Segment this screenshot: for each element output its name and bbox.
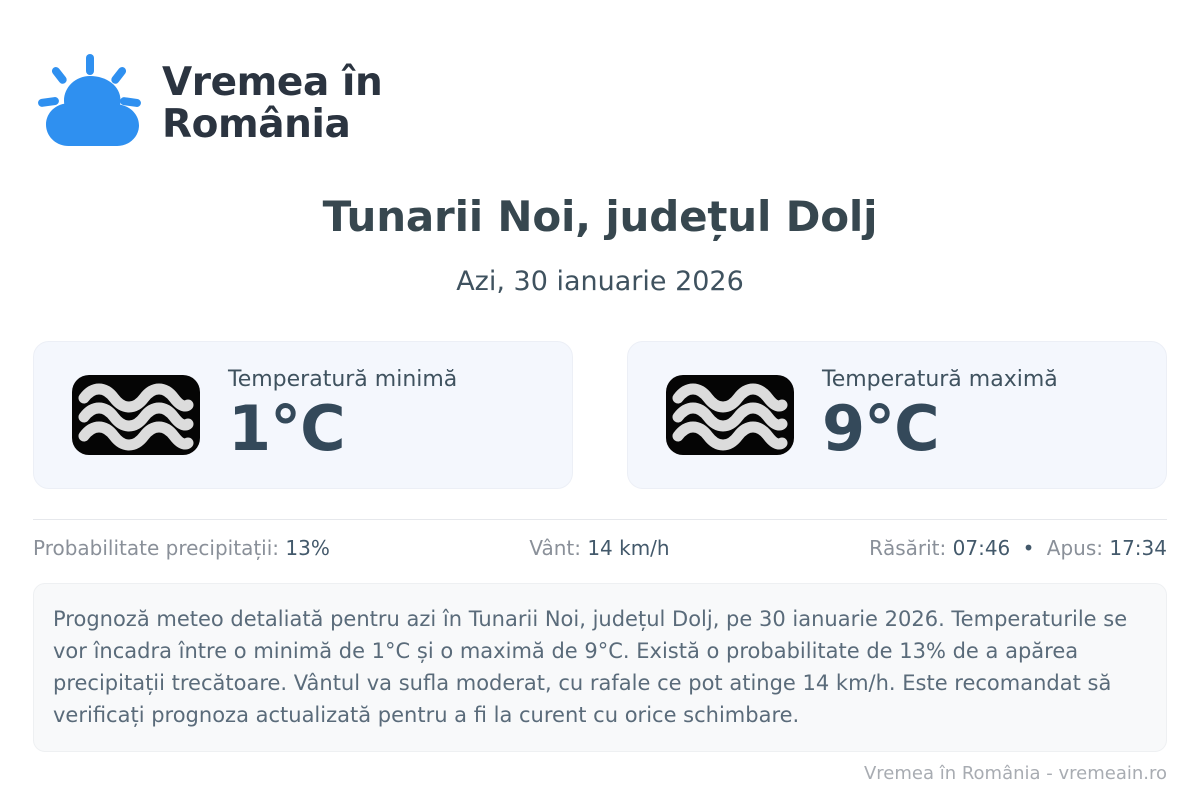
sunrise-value: 07:46: [953, 536, 1011, 560]
fog-waves-icon: [664, 373, 796, 457]
sunset-value: 17:34: [1109, 536, 1167, 560]
footer-credit: Vremea în România - vremeain.ro: [864, 763, 1167, 784]
sunrise-label: Răsărit:: [869, 536, 946, 560]
page-title: Tunarii Noi, județul Dolj: [0, 192, 1200, 241]
brand-title: Vremea în România: [162, 62, 382, 146]
brand-logo[interactable]: Vremea în România: [34, 52, 382, 156]
sun-cloud-icon: [34, 52, 144, 156]
wind-stat: Vânt: 14 km/h: [330, 536, 869, 560]
precipitation-value: 13%: [285, 536, 329, 560]
date-subtitle: Azi, 30 ianuarie 2026: [0, 266, 1200, 297]
precipitation-label: Probabilitate precipitații:: [33, 536, 279, 560]
temperature-cards: Temperatură minimă 1°C Temperatură maxim…: [33, 341, 1167, 489]
max-temperature-card: Temperatură maximă 9°C: [627, 341, 1167, 489]
sunset-label: Apus:: [1047, 536, 1103, 560]
stat-separator-icon: •: [1017, 536, 1041, 560]
min-temperature-label: Temperatură minimă: [228, 368, 457, 392]
min-temperature-card: Temperatură minimă 1°C: [33, 341, 573, 489]
wind-value: 14 km/h: [587, 536, 669, 560]
stats-divider: [33, 519, 1167, 520]
weather-page: Vremea în România Tunarii Noi, județul D…: [0, 0, 1200, 800]
min-temperature-value: 1°C: [228, 394, 457, 463]
max-temperature-label: Temperatură maximă: [822, 368, 1058, 392]
wind-label: Vânt:: [529, 536, 581, 560]
sun-times-stat: Răsărit: 07:46 • Apus: 17:34: [869, 536, 1167, 560]
stats-row: Probabilitate precipitații: 13% Vânt: 14…: [33, 536, 1167, 560]
fog-waves-icon: [70, 373, 202, 457]
forecast-description-box: Prognoză meteo detaliată pentru azi în T…: [33, 583, 1167, 752]
max-temperature-value: 9°C: [822, 394, 1058, 463]
precipitation-stat: Probabilitate precipitații: 13%: [33, 536, 330, 560]
forecast-description-text: Prognoză meteo detaliată pentru azi în T…: [53, 603, 1142, 731]
